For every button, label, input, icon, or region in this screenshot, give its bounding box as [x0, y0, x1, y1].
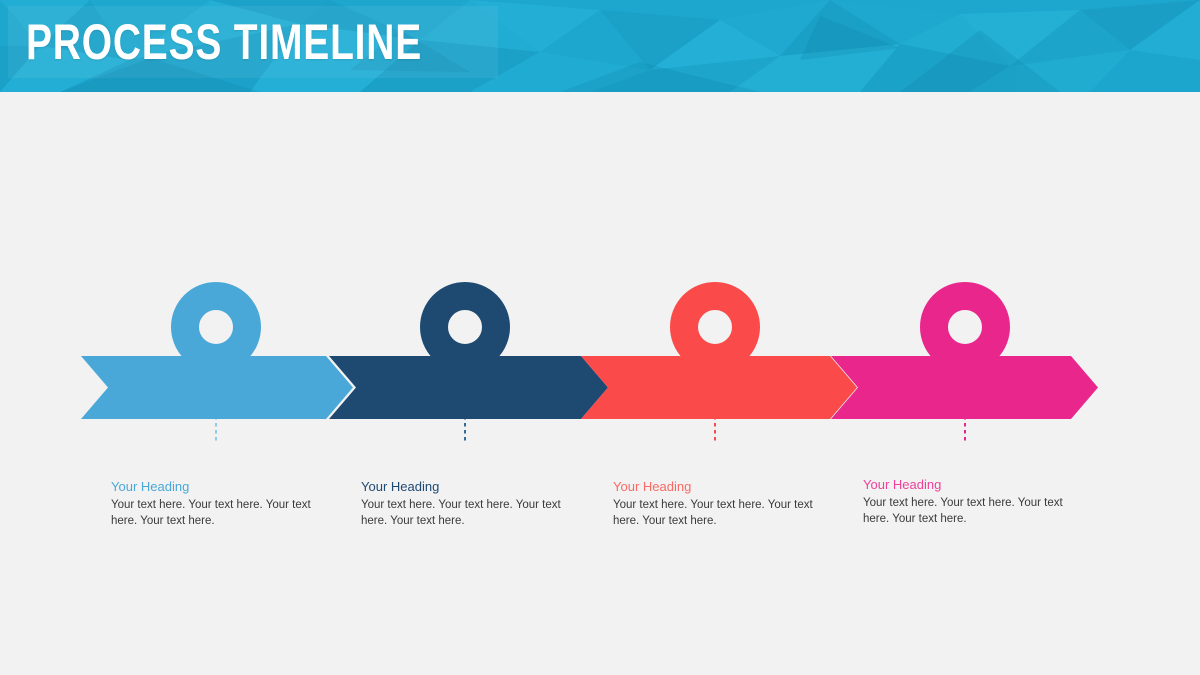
timeline-caption-3: Your Heading Your text here. Your text h… — [613, 479, 813, 529]
caption-heading: Your Heading — [361, 479, 561, 495]
arrow-segment-2[interactable] — [329, 356, 608, 419]
arrow-segment-4[interactable] — [831, 356, 1098, 419]
chevron-shape-icon — [81, 356, 353, 419]
caption-heading: Your Heading — [863, 477, 1063, 493]
page-title: PROCESS TIMELINE — [26, 14, 422, 70]
page-header: PROCESS TIMELINE — [0, 0, 1200, 92]
process-timeline: Your Heading Your text here. Your text h… — [0, 92, 1200, 675]
caption-heading: Your Heading — [111, 479, 311, 495]
caption-body: Your text here. Your text here. Your tex… — [111, 498, 311, 529]
chevron-shape-icon — [581, 356, 857, 419]
caption-heading: Your Heading — [613, 479, 813, 495]
chevron-shape-icon — [831, 356, 1098, 419]
timeline-caption-1: Your Heading Your text here. Your text h… — [111, 479, 311, 529]
chevron-shape-icon — [329, 356, 608, 419]
arrow-segment-3[interactable] — [581, 356, 857, 419]
arrow-band — [0, 356, 1200, 422]
timeline-caption-4: Your Heading Your text here. Your text h… — [863, 477, 1063, 527]
caption-body: Your text here. Your text here. Your tex… — [361, 498, 561, 529]
timeline-caption-2: Your Heading Your text here. Your text h… — [361, 479, 561, 529]
arrow-segment-1[interactable] — [81, 356, 353, 419]
caption-body: Your text here. Your text here. Your tex… — [613, 498, 813, 529]
caption-body: Your text here. Your text here. Your tex… — [863, 496, 1063, 527]
